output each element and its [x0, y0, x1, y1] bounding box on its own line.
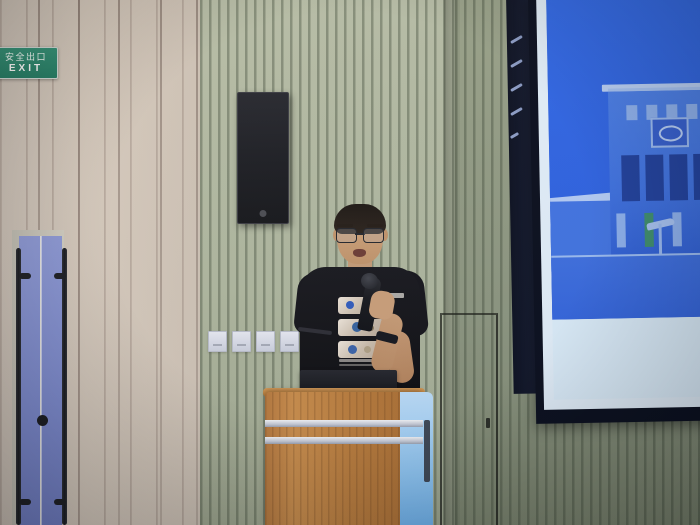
slide-content-area: [552, 317, 700, 400]
presenter-brow-left: [337, 224, 353, 227]
service-door-handle[interactable]: [486, 418, 490, 428]
door-peephole: [37, 415, 48, 426]
glasses-lens-right: [363, 228, 384, 243]
wall-speaker: [237, 92, 289, 224]
lecture-hall-photo: 安全出口 EXIT: [0, 0, 700, 525]
door-handle-nub-top-right: [54, 273, 66, 279]
glasses-lens-left: [336, 228, 357, 243]
photo-road: [551, 254, 700, 319]
door-centre-seam: [40, 236, 42, 525]
podium-band-lower: [265, 437, 423, 444]
exit-sign: 安全出口 EXIT: [0, 47, 58, 79]
door-handle-right[interactable]: [62, 248, 67, 525]
door-leaf-right[interactable]: [41, 236, 62, 525]
presenter-glasses: [336, 228, 384, 241]
door-handle-nub-top-left: [19, 273, 31, 279]
presenter-mouth: [353, 249, 366, 257]
switch-plate[interactable]: [256, 331, 275, 352]
door-handle-nub-bottom-left: [19, 499, 31, 505]
presenter: [300, 205, 420, 395]
exit-sign-english-label: EXIT: [9, 63, 43, 74]
door-leaf-left[interactable]: [19, 236, 40, 525]
switch-plate[interactable]: [208, 331, 227, 352]
laptop[interactable]: [300, 370, 397, 390]
wall-switch-plates[interactable]: [208, 331, 299, 352]
switch-plate[interactable]: [280, 331, 299, 352]
photo-building-medallion: [650, 117, 689, 148]
speaker-logo-icon: [260, 210, 267, 217]
door-handle-left[interactable]: [16, 248, 21, 525]
exit-sign-chinese-label: 安全出口: [5, 53, 47, 63]
podium-side-edge: [424, 420, 430, 482]
presenter-brow-right: [367, 224, 383, 227]
podium-band-upper: [265, 420, 423, 427]
projected-slide: [536, 0, 700, 410]
photo-historic-building: [608, 86, 700, 266]
slide-photograph: [546, 0, 700, 320]
switch-plate[interactable]: [232, 331, 251, 352]
door-handle-nub-bottom-right: [54, 499, 66, 505]
